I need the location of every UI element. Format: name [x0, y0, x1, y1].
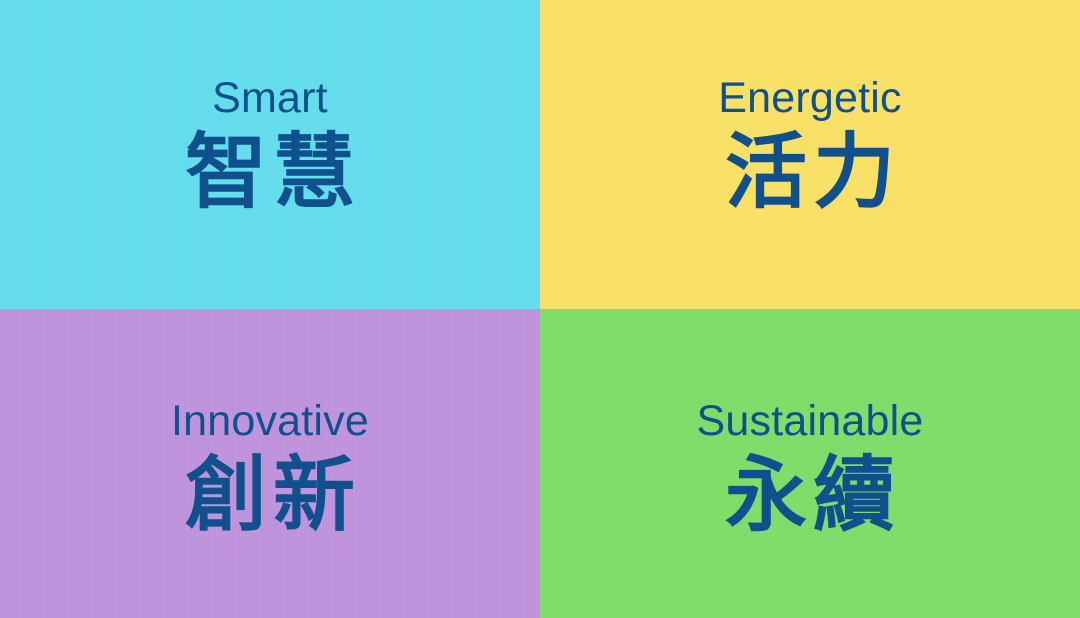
quadrant-sustainable-text-stack: Sustainable 永續	[697, 400, 924, 539]
quadrant-smart-label-zh: 智慧	[179, 130, 361, 216]
quadrant-sustainable: Sustainable 永續	[540, 309, 1080, 618]
quadrant-smart-text-stack: Smart 智慧	[179, 77, 361, 216]
quadrant-energetic-text-stack: Energetic 活力	[718, 77, 901, 216]
quadrant-energetic: Energetic 活力	[540, 0, 1080, 309]
quadrant-energetic-label-zh: 活力	[719, 130, 901, 216]
quadrant-grid: Smart 智慧 Energetic 活力 Innovative 創新 Sust…	[0, 0, 1080, 618]
quadrant-innovative-label-en: Innovative	[171, 400, 369, 443]
quadrant-energetic-label-en: Energetic	[718, 77, 901, 120]
quadrant-innovative: Innovative 創新	[0, 309, 540, 618]
quadrant-sustainable-label-zh: 永續	[719, 453, 901, 539]
quadrant-smart-label-en: Smart	[212, 77, 328, 120]
quadrant-smart: Smart 智慧	[0, 0, 540, 309]
quadrant-innovative-label-zh: 創新	[179, 453, 361, 539]
quadrant-sustainable-label-en: Sustainable	[697, 400, 924, 443]
brand-values-poster: Smart 智慧 Energetic 活力 Innovative 創新 Sust…	[0, 0, 1080, 618]
quadrant-innovative-text-stack: Innovative 創新	[171, 400, 369, 539]
